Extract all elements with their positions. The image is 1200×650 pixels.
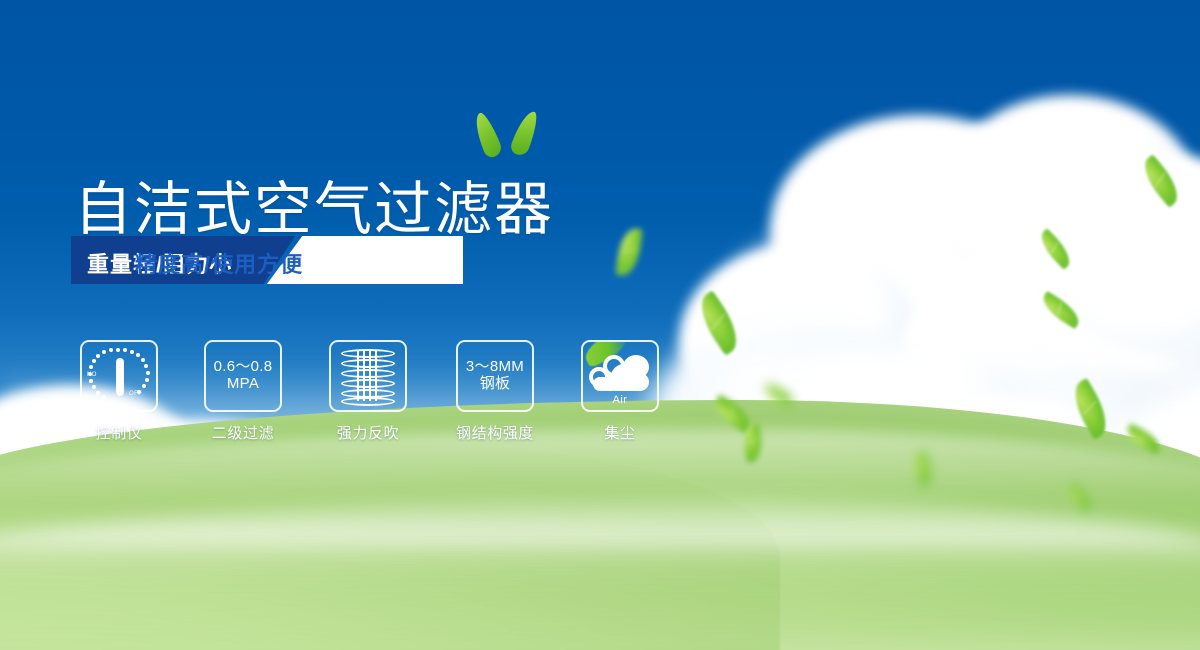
gauge-icon: NO OFF [87, 346, 151, 406]
gauge-label-no: NO [87, 372, 97, 378]
feature-item-two-stage-filter[interactable]: 0.6～0.8 MPA 二级过滤 [204, 340, 282, 443]
filter-coil-icon [341, 347, 395, 405]
feature-item-controller[interactable]: NO OFF 控制仪 [80, 340, 158, 443]
feature-icon-box: NO OFF [80, 340, 158, 412]
feature-item-dust-collection[interactable]: Air 集尘 [581, 340, 659, 443]
page-title: 自洁式空气过滤器 [74, 181, 554, 239]
sprout-leaf-left [470, 110, 504, 159]
subtitle-banner: 重量轻/阻力小 精度高/使用方便 [71, 236, 463, 284]
sprout-leaf-right [509, 108, 542, 157]
floating-leaf [616, 227, 643, 277]
subtitle-right-text: 精度高/使用方便 [135, 247, 303, 279]
feature-label: 强力反吹 [329, 422, 407, 443]
gauge-label-off: OFF [129, 391, 142, 397]
feature-icon-box: 3～8MM 钢板 [456, 340, 534, 412]
feature-icon-box: 0.6～0.8 MPA [204, 340, 282, 412]
gauge-needle [116, 358, 124, 396]
steel-plate-text-icon: 3～8MM 钢板 [466, 359, 524, 393]
feature-label: 控制仪 [80, 422, 158, 443]
steel-line-1: 3～8MM [466, 358, 524, 375]
pressure-line-2: MPA [214, 376, 273, 393]
air-caption: Air [587, 394, 653, 406]
feature-icon-box: Air [581, 340, 659, 412]
feature-label: 钢结构强度 [456, 422, 534, 443]
grass-foreground-shade [0, 540, 1200, 650]
sprout-leaves-decoration [476, 110, 540, 158]
cloud-air-icon: Air [587, 347, 653, 405]
feature-item-steel-strength[interactable]: 3～8MM 钢板 钢结构强度 [456, 340, 534, 443]
steel-line-2: 钢板 [466, 376, 524, 393]
hero-banner: 自洁式空气过滤器 重量轻/阻力小 精度高/使用方便 [0, 0, 1200, 650]
feature-item-pulse-blowback[interactable]: 强力反吹 [329, 340, 407, 443]
pressure-text-icon: 0.6～0.8 MPA [214, 359, 273, 393]
pressure-line-1: 0.6～0.8 [214, 358, 273, 375]
feature-label: 二级过滤 [204, 422, 282, 443]
feature-icon-box [329, 340, 407, 412]
feature-label: 集尘 [581, 422, 659, 443]
